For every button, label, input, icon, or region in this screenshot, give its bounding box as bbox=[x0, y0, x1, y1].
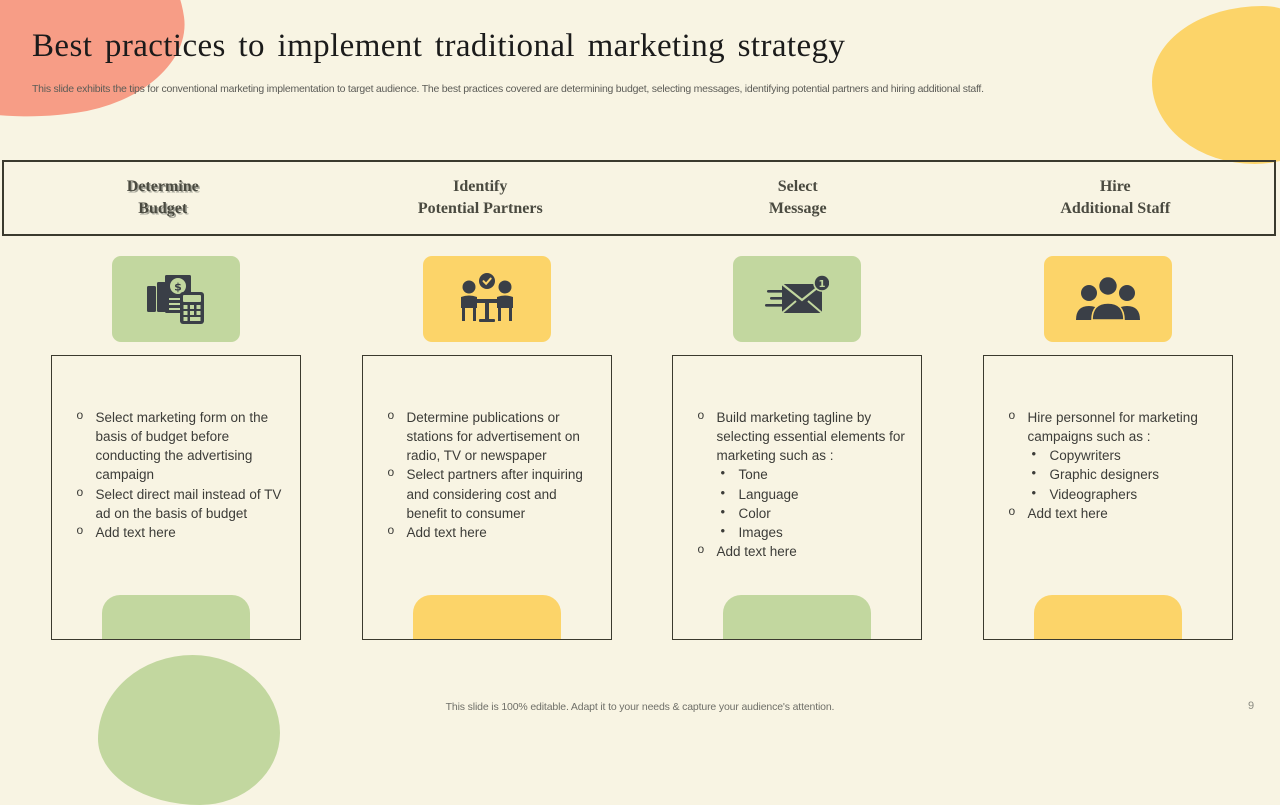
column-header-line1: Select bbox=[778, 176, 818, 198]
bullet-text: Select direct mail instead of TV ad on t… bbox=[96, 487, 282, 521]
page-number: 9 bbox=[1248, 700, 1254, 712]
sub-bullet-list: ToneLanguageColorImages bbox=[717, 465, 911, 542]
footer-note: This slide is 100% editable. Adapt it to… bbox=[0, 701, 1280, 713]
bullet-item: Select marketing form on the basis of bu… bbox=[76, 408, 290, 485]
column-header-1: DetermineBudget bbox=[4, 162, 322, 234]
bullet-list: Hire personnel for marketing campaigns s… bbox=[1008, 408, 1222, 523]
column-header-line2: Potential Partners bbox=[418, 198, 543, 220]
svg-text:1: 1 bbox=[818, 279, 825, 290]
bullet-item: Add text here bbox=[76, 523, 290, 542]
icon-tile-1: $ bbox=[112, 256, 240, 342]
bullet-text: Hire personnel for marketing campaigns s… bbox=[1028, 410, 1198, 444]
sub-bullet-item: Tone bbox=[717, 465, 911, 484]
bullet-item: Select direct mail instead of TV ad on t… bbox=[76, 485, 290, 523]
decorative-blob-green bbox=[98, 655, 280, 805]
partners-meeting-icon bbox=[456, 272, 518, 326]
people-group-icon bbox=[1075, 275, 1141, 323]
sub-bullet-item: Graphic designers bbox=[1028, 465, 1222, 484]
bullet-text: Determine publications or stations for a… bbox=[407, 410, 580, 463]
svg-text:$: $ bbox=[174, 281, 182, 294]
sub-bullet-item: Language bbox=[717, 485, 911, 504]
text-box-accent-shape bbox=[102, 595, 250, 640]
column-header-line1: Hire bbox=[1100, 176, 1131, 198]
bullet-item: Add text here bbox=[1008, 504, 1222, 523]
sub-bullet-list: CopywritersGraphic designersVideographer… bbox=[1028, 446, 1222, 503]
bullet-text: Build marketing tagline by selecting ess… bbox=[717, 410, 905, 463]
bullet-item: Build marketing tagline by selecting ess… bbox=[697, 408, 911, 542]
budget-document-calculator-icon: $ bbox=[145, 272, 207, 326]
column-header-band: DetermineBudgetIdentifyPotential Partner… bbox=[2, 160, 1276, 236]
sub-bullet-item: Copywriters bbox=[1028, 446, 1222, 465]
column-1: $Select marketing form on the basis of b… bbox=[20, 250, 331, 650]
text-box-accent-shape bbox=[413, 595, 561, 640]
text-box-2[interactable]: Determine publications or stations for a… bbox=[362, 355, 612, 640]
column-header-4: HireAdditional Staff bbox=[957, 162, 1275, 234]
column-3: 1Build marketing tagline by selecting es… bbox=[641, 250, 952, 650]
envelope-message-icon: 1 bbox=[765, 275, 829, 323]
bullet-item: Add text here bbox=[697, 542, 911, 561]
column-header-line2: Budget bbox=[138, 198, 187, 220]
columns-container: $Select marketing form on the basis of b… bbox=[0, 250, 1280, 650]
page-title: Best practices to implement traditional … bbox=[32, 28, 1132, 65]
text-box-3[interactable]: Build marketing tagline by selecting ess… bbox=[672, 355, 922, 640]
text-box-accent-shape bbox=[723, 595, 871, 640]
bullet-list: Determine publications or stations for a… bbox=[387, 408, 601, 542]
text-box-1[interactable]: Select marketing form on the basis of bu… bbox=[51, 355, 301, 640]
text-box-accent-shape bbox=[1034, 595, 1182, 640]
column-header-line2: Message bbox=[769, 198, 827, 220]
bullet-text: Add text here bbox=[407, 525, 487, 540]
sub-bullet-item: Images bbox=[717, 523, 911, 542]
column-header-line1: Determine bbox=[127, 176, 199, 198]
bullet-item: Add text here bbox=[387, 523, 601, 542]
icon-tile-2 bbox=[423, 256, 551, 342]
column-2: Determine publications or stations for a… bbox=[331, 250, 642, 650]
column-4: Hire personnel for marketing campaigns s… bbox=[952, 250, 1263, 650]
bullet-list: Select marketing form on the basis of bu… bbox=[76, 408, 290, 542]
bullet-item: Select partners after inquiring and cons… bbox=[387, 465, 601, 522]
column-header-line2: Additional Staff bbox=[1060, 198, 1170, 220]
icon-tile-4 bbox=[1044, 256, 1172, 342]
bullet-text: Select marketing form on the basis of bu… bbox=[96, 410, 269, 482]
column-header-line1: Identify bbox=[453, 176, 507, 198]
icon-tile-3: 1 bbox=[733, 256, 861, 342]
bullet-item: Hire personnel for marketing campaigns s… bbox=[1008, 408, 1222, 504]
bullet-text: Add text here bbox=[96, 525, 176, 540]
sub-bullet-item: Color bbox=[717, 504, 911, 523]
sub-bullet-item: Videographers bbox=[1028, 485, 1222, 504]
bullet-item: Determine publications or stations for a… bbox=[387, 408, 601, 465]
bullet-text: Add text here bbox=[1028, 506, 1108, 521]
bullet-text: Add text here bbox=[717, 544, 797, 559]
text-box-4[interactable]: Hire personnel for marketing campaigns s… bbox=[983, 355, 1233, 640]
bullet-text: Select partners after inquiring and cons… bbox=[407, 467, 583, 520]
column-header-2: IdentifyPotential Partners bbox=[322, 162, 640, 234]
column-header-3: SelectMessage bbox=[639, 162, 957, 234]
page-subtitle: This slide exhibits the tips for convent… bbox=[32, 83, 1212, 95]
bullet-list: Build marketing tagline by selecting ess… bbox=[697, 408, 911, 561]
slide-header: Best practices to implement traditional … bbox=[0, 0, 1280, 150]
